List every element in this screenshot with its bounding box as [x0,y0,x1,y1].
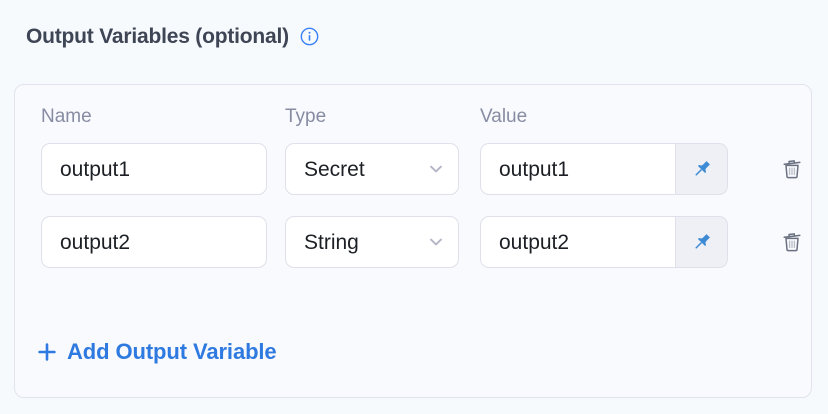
section-header: Output Variables (optional) [26,26,319,47]
variable-rows: output1 Secret output1 [15,143,811,289]
pushpin-icon [690,157,714,181]
variable-name-value: output1 [42,159,130,180]
variable-value-text: output1 [481,159,569,180]
variable-value-input[interactable]: output1 [480,143,676,195]
column-header-type: Type [285,107,326,126]
variable-type-value: Secret [286,159,365,180]
pushpin-icon [690,230,714,254]
column-header-name: Name [41,107,92,126]
variable-type-select[interactable]: Secret [285,143,459,195]
variable-value-text: output2 [481,232,569,253]
chevron-down-icon [427,160,445,178]
variable-value-input[interactable]: output2 [480,216,676,268]
output-variables-panel: Output Variables (optional) Name Type Va… [0,0,828,414]
variable-name-input[interactable]: output2 [41,216,267,268]
delete-row-button[interactable] [766,216,818,268]
pin-value-button[interactable] [676,216,728,268]
column-header-value: Value [480,107,527,126]
table-row: output1 Secret output1 [15,143,811,195]
table-row: output2 String output2 [15,216,811,268]
trash-icon [779,229,805,255]
variable-name-input[interactable]: output1 [41,143,267,195]
trash-icon [779,156,805,182]
column-headers: Name Type Value [15,85,811,141]
variable-value-group: output1 [480,143,728,195]
output-variables-container: Name Type Value output1 Secret [14,84,812,398]
delete-row-button[interactable] [766,143,818,195]
variable-value-group: output2 [480,216,728,268]
variable-name-value: output2 [42,232,130,253]
plus-icon [37,342,57,362]
variable-type-select[interactable]: String [285,216,459,268]
add-output-variable-label: Add Output Variable [67,341,277,363]
chevron-down-icon [427,233,445,251]
pin-value-button[interactable] [676,143,728,195]
variable-type-value: String [286,232,359,253]
info-circle-icon[interactable] [300,27,319,46]
page-title: Output Variables (optional) [26,26,289,47]
add-output-variable-button[interactable]: Add Output Variable [37,341,277,363]
